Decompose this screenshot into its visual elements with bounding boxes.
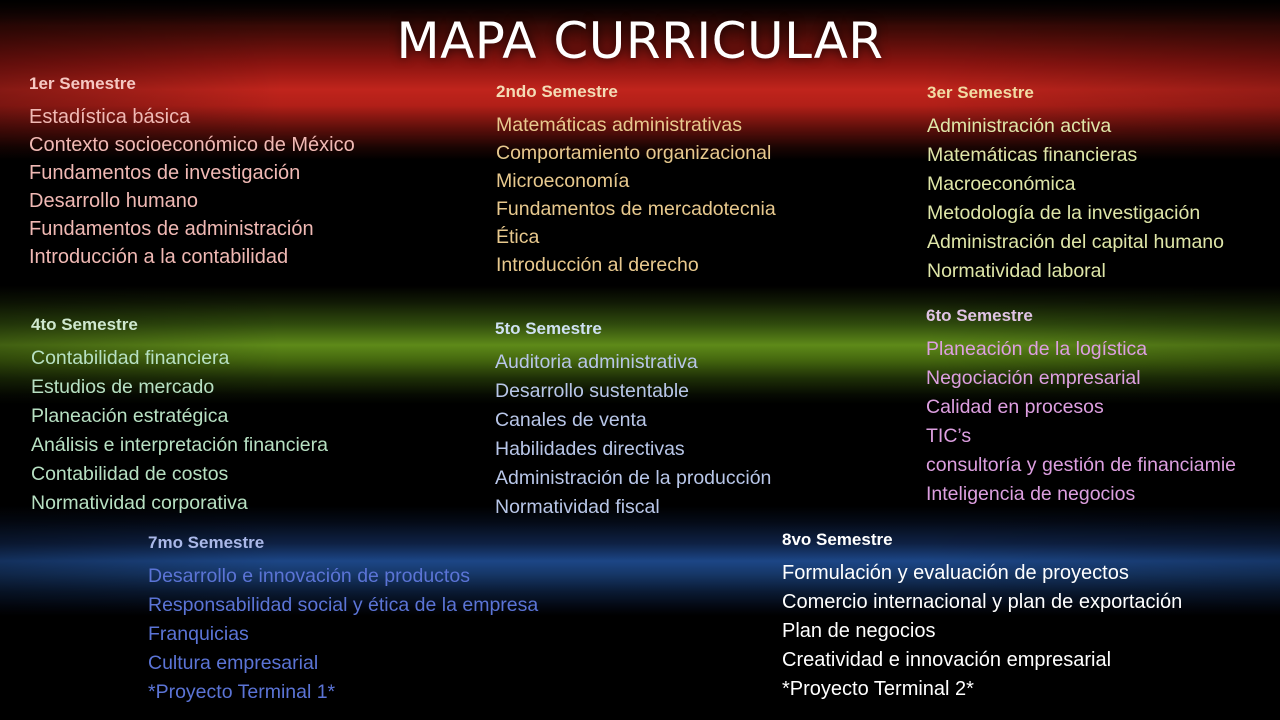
page-title: MAPA CURRICULAR bbox=[0, 12, 1280, 70]
semester-block-7: 7mo Semestre Desarrollo e innovación de … bbox=[148, 533, 538, 707]
course-item: Fundamentos de mercadotecnia bbox=[496, 195, 776, 223]
course-item: consultoría y gestión de financiamie bbox=[926, 451, 1236, 480]
course-item: Microeconomía bbox=[496, 167, 776, 195]
course-item: Administración del capital humano bbox=[927, 228, 1224, 257]
semester-heading-4: 4to Semestre bbox=[31, 315, 328, 335]
course-item: Plan de negocios bbox=[782, 617, 1182, 646]
course-item: Fundamentos de administración bbox=[29, 215, 355, 243]
course-list-4: Contabilidad financiera Estudios de merc… bbox=[31, 344, 328, 518]
semester-heading-1: 1er Semestre bbox=[29, 74, 355, 94]
course-item: Planeación de la logística bbox=[926, 335, 1236, 364]
semester-heading-8: 8vo Semestre bbox=[782, 530, 1182, 550]
course-item: Creatividad e innovación empresarial bbox=[782, 646, 1182, 675]
course-item: Calidad en procesos bbox=[926, 393, 1236, 422]
course-item: Matemáticas financieras bbox=[927, 141, 1224, 170]
course-list-5: Auditoria administrativa Desarrollo sust… bbox=[495, 348, 771, 522]
semester-block-1: 1er Semestre Estadística básica Contexto… bbox=[29, 74, 355, 271]
course-item: Matemáticas administrativas bbox=[496, 111, 776, 139]
semester-block-4: 4to Semestre Contabilidad financiera Est… bbox=[31, 315, 328, 518]
course-item: Fundamentos de investigación bbox=[29, 159, 355, 187]
semester-block-5: 5to Semestre Auditoria administrativa De… bbox=[495, 319, 771, 522]
course-item: Ética bbox=[496, 223, 776, 251]
course-item: *Proyecto Terminal 2* bbox=[782, 675, 1182, 704]
semester-heading-5: 5to Semestre bbox=[495, 319, 771, 339]
course-item: Metodología de la investigación bbox=[927, 199, 1224, 228]
course-item: Responsabilidad social y ética de la emp… bbox=[148, 591, 538, 620]
course-list-6: Planeación de la logística Negociación e… bbox=[926, 335, 1236, 509]
course-item: Contexto socioeconómico de México bbox=[29, 131, 355, 159]
course-item: Desarrollo sustentable bbox=[495, 377, 771, 406]
course-item: TIC’s bbox=[926, 422, 1236, 451]
course-item: Estudios de mercado bbox=[31, 373, 328, 402]
course-item: Contabilidad financiera bbox=[31, 344, 328, 373]
course-item: Canales de venta bbox=[495, 406, 771, 435]
course-item: Inteligencia de negocios bbox=[926, 480, 1236, 509]
course-list-2: Matemáticas administrativas Comportamien… bbox=[496, 111, 776, 279]
semester-block-8: 8vo Semestre Formulación y evaluación de… bbox=[782, 530, 1182, 704]
course-item: Administración activa bbox=[927, 112, 1224, 141]
course-item: Normatividad laboral bbox=[927, 257, 1224, 286]
course-item: Contabilidad de costos bbox=[31, 460, 328, 489]
course-item: *Proyecto Terminal 1* bbox=[148, 678, 538, 707]
course-item: Cultura empresarial bbox=[148, 649, 538, 678]
course-item: Desarrollo e innovación de productos bbox=[148, 562, 538, 591]
course-item: Normatividad fiscal bbox=[495, 493, 771, 522]
course-item: Planeación estratégica bbox=[31, 402, 328, 431]
course-item: Normatividad corporativa bbox=[31, 489, 328, 518]
course-item: Administración de la producción bbox=[495, 464, 771, 493]
semester-block-2: 2ndo Semestre Matemáticas administrativa… bbox=[496, 82, 776, 279]
course-list-3: Administración activa Matemáticas financ… bbox=[927, 112, 1224, 286]
course-item: Introducción al derecho bbox=[496, 251, 776, 279]
course-item: Estadística básica bbox=[29, 103, 355, 131]
course-item: Negociación empresarial bbox=[926, 364, 1236, 393]
semester-block-6: 6to Semestre Planeación de la logística … bbox=[926, 306, 1236, 509]
course-item: Introducción a la contabilidad bbox=[29, 243, 355, 271]
course-item: Comercio internacional y plan de exporta… bbox=[782, 588, 1182, 617]
curriculum-map-slide: MAPA CURRICULAR 1er Semestre Estadística… bbox=[0, 0, 1280, 720]
course-item: Desarrollo humano bbox=[29, 187, 355, 215]
semester-heading-2: 2ndo Semestre bbox=[496, 82, 776, 102]
course-list-8: Formulación y evaluación de proyectos Co… bbox=[782, 559, 1182, 704]
semester-block-3: 3er Semestre Administración activa Matem… bbox=[927, 83, 1224, 286]
course-list-1: Estadística básica Contexto socioeconómi… bbox=[29, 103, 355, 271]
semester-heading-3: 3er Semestre bbox=[927, 83, 1224, 103]
course-item: Auditoria administrativa bbox=[495, 348, 771, 377]
semester-heading-7: 7mo Semestre bbox=[148, 533, 538, 553]
course-list-7: Desarrollo e innovación de productos Res… bbox=[148, 562, 538, 707]
course-item: Habilidades directivas bbox=[495, 435, 771, 464]
course-item: Comportamiento organizacional bbox=[496, 139, 776, 167]
course-item: Franquicias bbox=[148, 620, 538, 649]
course-item: Formulación y evaluación de proyectos bbox=[782, 559, 1182, 588]
semester-heading-6: 6to Semestre bbox=[926, 306, 1236, 326]
course-item: Macroeconómica bbox=[927, 170, 1224, 199]
course-item: Análisis e interpretación financiera bbox=[31, 431, 328, 460]
